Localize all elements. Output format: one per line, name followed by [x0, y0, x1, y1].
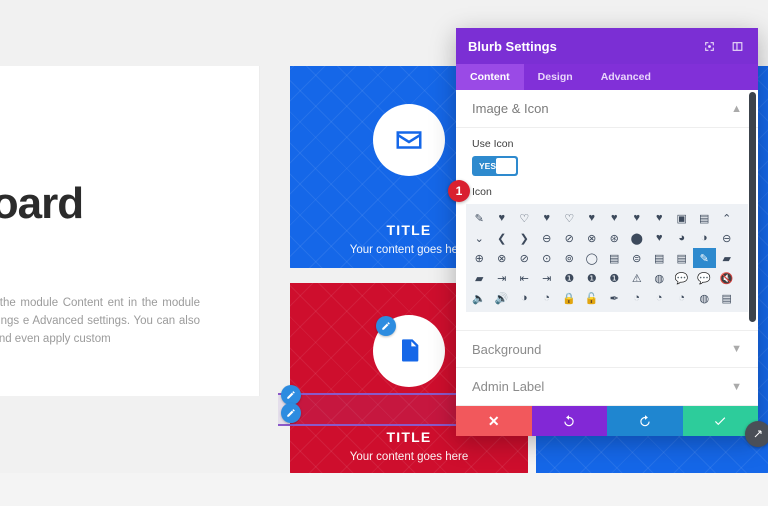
tab-design[interactable]: Design	[524, 64, 587, 90]
edit-pencil-icon[interactable]	[376, 316, 396, 336]
icon-option[interactable]: ⊗	[491, 248, 514, 268]
icon-option[interactable]: ▤	[648, 248, 671, 268]
modal-scrollbar[interactable]	[749, 92, 756, 404]
icon-option[interactable]: ⊖	[536, 228, 559, 248]
page-title: to nboard	[0, 126, 260, 230]
icon-option[interactable]: ♥	[648, 208, 671, 228]
icon-option[interactable]: ◠	[581, 308, 604, 312]
icon-option[interactable]: ♥	[536, 208, 559, 228]
redo-icon	[638, 414, 652, 428]
icon-option[interactable]: ✒	[603, 288, 626, 308]
resize-handle[interactable]	[745, 421, 768, 447]
tab-content[interactable]: Content	[456, 64, 524, 90]
icon-option[interactable]: ◔	[626, 288, 649, 308]
icon-option[interactable]: ✎	[468, 208, 491, 228]
icon-option[interactable]: ▤	[558, 308, 581, 312]
icon-option[interactable]: 🔈	[468, 288, 491, 308]
icon-option[interactable]: ◌	[491, 308, 514, 312]
field-use-icon: Use Icon YES	[456, 128, 758, 176]
icon-option[interactable]: ⇤	[513, 268, 536, 288]
icon-option[interactable]: ◍	[693, 288, 716, 308]
icon-option[interactable]: ◔	[536, 288, 559, 308]
card-text: Your content goes here	[290, 451, 528, 463]
icon-option[interactable]: ▰	[716, 248, 739, 268]
icon-option[interactable]: ⊙	[536, 248, 559, 268]
icon-option[interactable]: ♥	[648, 228, 671, 248]
cancel-button[interactable]: ✕	[456, 406, 532, 436]
chevron-up-icon[interactable]: ▲	[731, 103, 742, 115]
icon-option[interactable]: ❶	[603, 268, 626, 288]
icon-option[interactable]: ♥	[603, 208, 626, 228]
edit-pencil-icon[interactable]	[281, 385, 301, 405]
edit-pencil-icon[interactable]	[281, 403, 301, 423]
left-content-panel: to nboard inline or in the module Conten…	[0, 66, 260, 396]
field-icon: Icon	[456, 176, 758, 198]
icon-option[interactable]: ◑	[513, 288, 536, 308]
icon-option[interactable]: ♥	[491, 208, 514, 228]
blurb-settings-modal: Blurb Settings Content Design Advanced I…	[456, 28, 758, 436]
icon-option[interactable]: ♡	[513, 208, 536, 228]
icon-option[interactable]: ⊛	[603, 228, 626, 248]
icon-option[interactable]: ⊘	[513, 248, 536, 268]
step-number-badge: 1	[448, 180, 470, 202]
icon-option[interactable]: ◑	[693, 228, 716, 248]
section-title: Admin Label	[472, 379, 731, 394]
modal-body: Image & Icon ▲ Use Icon YES Icon ✎♥♡♥♡♥♥…	[456, 90, 758, 406]
icon-option[interactable]: ◌	[468, 308, 491, 312]
envelope-icon	[373, 104, 445, 176]
icon-option[interactable]: ⊗	[581, 228, 604, 248]
modal-title: Blurb Settings	[468, 39, 690, 54]
icon-option[interactable]: 💬	[693, 268, 716, 288]
close-icon: ✕	[488, 413, 500, 430]
icon-option[interactable]: ▤	[693, 208, 716, 228]
icon-option[interactable]: ⊜	[626, 248, 649, 268]
check-icon	[713, 414, 727, 428]
icon-option[interactable]: ♥	[626, 208, 649, 228]
icon-option[interactable]: ▣	[671, 208, 694, 228]
icon-option[interactable]: ♡	[558, 208, 581, 228]
icon-option[interactable]: ▬	[513, 308, 536, 312]
icon-option[interactable]: ⊖	[716, 228, 739, 248]
section-admin-label[interactable]: Admin Label ▼	[456, 368, 758, 406]
page-paragraph: inline or in the module Content ent in t…	[0, 294, 200, 348]
icon-option[interactable]: ⊘	[558, 228, 581, 248]
icon-option[interactable]: ⌄	[468, 228, 491, 248]
page-title-line2: nboard	[0, 178, 260, 230]
icon-option[interactable]: ▤	[671, 248, 694, 268]
toggle-value: YES	[474, 161, 496, 171]
modal-footer: ✕	[456, 406, 758, 436]
icon-option[interactable]: ▰	[468, 268, 491, 288]
icon-picker-grid[interactable]: ✎♥♡♥♡♥♥♥♥▣▤⌃⌄❮❯⊖⊘⊗⊛⬤♥◕◑⊖⊕⊗⊘⊙⊚◯▤⊜▤▤✎▰▰⇥⇤⇥…	[466, 204, 748, 312]
icon-option[interactable]: ⊚	[558, 248, 581, 268]
scrollbar-thumb[interactable]	[749, 92, 756, 322]
icon-option[interactable]: 💬	[671, 268, 694, 288]
icon-option[interactable]: ⬤	[626, 228, 649, 248]
chevron-down-icon[interactable]: ▼	[731, 343, 742, 355]
icon-option[interactable]: 🔊	[491, 288, 514, 308]
screenshot-root: to nboard inline or in the module Conten…	[0, 0, 768, 506]
icon-option[interactable]: ▤	[716, 288, 739, 308]
toggle-knob	[496, 158, 516, 174]
icon-option[interactable]: ❯	[513, 228, 536, 248]
icon-option[interactable]: ◕	[671, 228, 694, 248]
fullscreen-icon[interactable]	[700, 37, 718, 55]
icon-option[interactable]: ♥	[581, 208, 604, 228]
icon-option[interactable]: ❶	[558, 268, 581, 288]
icon-option[interactable]: ◍	[648, 268, 671, 288]
use-icon-toggle[interactable]: YES	[472, 156, 518, 176]
icon-option[interactable]: ◔	[648, 288, 671, 308]
field-label: Use Icon	[472, 138, 742, 150]
icon-option[interactable]: ⇥	[536, 268, 559, 288]
section-image-and-icon[interactable]: Image & Icon ▲	[456, 90, 758, 128]
icon-option[interactable]: 🔇	[716, 268, 739, 288]
section-background[interactable]: Background ▼	[456, 330, 758, 368]
field-label: Icon	[472, 186, 742, 198]
chevron-down-icon[interactable]: ▼	[731, 381, 742, 393]
icon-option[interactable]: 🔓	[581, 288, 604, 308]
redo-button[interactable]	[607, 406, 683, 436]
icon-option[interactable]: ⚠	[626, 268, 649, 288]
icon-option[interactable]: ⌃	[716, 208, 739, 228]
icon-option[interactable]: ◔	[671, 288, 694, 308]
icon-option-selected[interactable]: ✎	[693, 248, 716, 268]
modal-tabs: Content Design Advanced	[456, 64, 758, 90]
panel-divider	[259, 66, 260, 396]
icon-option[interactable]: ❶	[581, 268, 604, 288]
icon-option[interactable]: ▤	[603, 248, 626, 268]
icon-option[interactable]: 🔒	[558, 288, 581, 308]
panel-layout-icon[interactable]	[728, 37, 746, 55]
undo-button[interactable]	[532, 406, 608, 436]
tab-advanced[interactable]: Advanced	[587, 64, 665, 90]
icon-option[interactable]: ❮	[491, 228, 514, 248]
page-title-line1: to	[0, 126, 260, 178]
section-title: Background	[472, 342, 731, 357]
modal-header: Blurb Settings	[456, 28, 758, 64]
bottom-strip	[0, 473, 768, 506]
icon-option[interactable]: ⇥	[491, 268, 514, 288]
icon-option[interactable]: ⌶	[536, 308, 559, 312]
undo-icon	[562, 414, 576, 428]
icon-option[interactable]: ◯	[581, 248, 604, 268]
section-title: Image & Icon	[472, 101, 731, 116]
icon-option[interactable]: ⊕	[468, 248, 491, 268]
